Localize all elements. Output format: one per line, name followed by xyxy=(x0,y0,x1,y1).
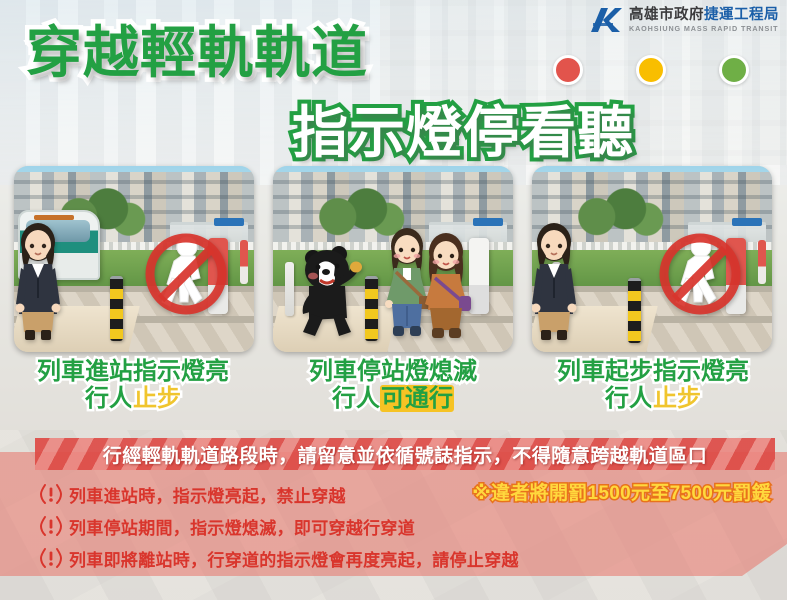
bear-mascot-figure xyxy=(299,242,363,340)
bullet-text: 列車停站期間，指示燈熄滅，即可穿越行穿道 xyxy=(69,514,415,539)
bullet-text: 列車即將離站時，行穿道的指示燈會再度亮起，請停止穿越 xyxy=(69,546,519,571)
list-item: 列車即將離站時，行穿道的指示燈會再度亮起，請停止穿越 xyxy=(40,542,510,574)
warning-exclamation-icon xyxy=(40,515,62,537)
panel-train-stopped xyxy=(273,166,513,352)
green-signal-dot xyxy=(719,55,749,85)
caption-panel-3: 列車起步指示燈亮 行人止步 xyxy=(522,358,784,413)
headline-line-1: 穿越輕軌軌道 xyxy=(26,8,368,89)
logo-agency-name: 高雄市政府 xyxy=(629,7,704,23)
caption-row: 列車進站指示燈亮 行人止步 列車停站燈熄滅 行人可通行 列車起步指示燈亮 行人止… xyxy=(0,358,787,424)
red-banner-text: 行經輕軌軌道路段時，請留意並依循號誌指示，不得隨意跨越軌道區口 xyxy=(103,441,708,468)
caption-3-prefix: 行人 xyxy=(605,385,653,412)
panel-yellow-black-bollard xyxy=(365,276,378,341)
poster-root: 高雄市政府捷運工程局 KAOHSIUNG MASS RAPID TRANSIT … xyxy=(0,0,787,600)
caption-2-line-2: 行人可通行 xyxy=(262,386,524,413)
caption-2-highlight: 可通行 xyxy=(380,385,454,412)
bullet-text: 列車進站時，指示燈亮起，禁止穿越 xyxy=(69,482,346,507)
warning-bullet-list: 列車進站時，指示燈亮起，禁止穿越 列車停站期間，指示燈熄滅，即可穿越行穿道 xyxy=(40,478,510,574)
caption-panel-1: 列車進站指示燈亮 行人止步 xyxy=(2,358,264,413)
logo-english-name: KAOHSIUNG MASS RAPID TRANSIT xyxy=(629,25,779,32)
logo-chinese-name: 高雄市政府捷運工程局 xyxy=(629,8,779,23)
photo-panel-row xyxy=(0,166,787,356)
panel-train-arriving xyxy=(14,166,254,352)
panel-white-post xyxy=(285,262,294,316)
penalty-notice: ※違者將開罰1500元至7500元罰鍰 xyxy=(472,478,771,505)
panel-street-trees xyxy=(568,188,664,240)
caption-2-prefix: 行人 xyxy=(332,385,380,412)
caption-1-line-1: 列車進站指示燈亮 xyxy=(2,358,264,386)
caption-1-line-2: 行人止步 xyxy=(2,386,264,413)
caption-1-prefix: 行人 xyxy=(85,385,133,412)
red-signal-dot xyxy=(553,55,583,85)
pedestrian-signal-far xyxy=(240,240,248,284)
caption-3-highlight: 止步 xyxy=(653,385,701,412)
caption-1-highlight: 止步 xyxy=(133,385,181,412)
warning-exclamation-icon xyxy=(40,547,62,569)
warning-exclamation-icon xyxy=(40,483,62,505)
waiting-pedestrian-figure xyxy=(532,218,580,342)
headline-line-2: 指示燈停看聽 xyxy=(292,88,634,169)
panel-station-sign xyxy=(732,218,762,226)
caption-panel-2: 列車停站燈熄滅 行人可通行 xyxy=(262,358,524,413)
panel-train-departing xyxy=(532,166,772,352)
caption-3-line-1: 列車起步指示燈亮 xyxy=(522,358,784,386)
red-warning-banner: 行經輕軌軌道路段時，請留意並依循號誌指示，不得隨意跨越軌道區口 xyxy=(35,438,775,470)
caption-2-line-1: 列車停站燈熄滅 xyxy=(262,358,524,386)
waiting-pedestrian-figure xyxy=(14,218,64,342)
crossing-pedestrian-2 xyxy=(419,230,473,344)
caption-3-line-2: 行人止步 xyxy=(522,386,784,413)
list-item: 列車進站時，指示燈亮起，禁止穿越 xyxy=(40,478,510,510)
logo-bureau-name: 捷運工程局 xyxy=(704,7,779,23)
kmrt-k-logo-icon xyxy=(589,6,623,34)
panel-yellow-black-bollard xyxy=(110,276,123,341)
panel-station-sign xyxy=(473,218,503,226)
panel-station-sign xyxy=(214,218,244,226)
amber-signal-dot xyxy=(636,55,666,85)
list-item: 列車停站期間，指示燈熄滅，即可穿越行穿道 xyxy=(40,510,510,542)
panel-yellow-black-bollard xyxy=(628,278,641,343)
pedestrian-signal-far xyxy=(758,240,766,284)
signal-dot-row xyxy=(553,52,787,92)
no-crossing-icon xyxy=(140,228,226,314)
no-crossing-icon xyxy=(654,228,740,314)
logo-text-block: 高雄市政府捷運工程局 KAOHSIUNG MASS RAPID TRANSIT xyxy=(629,8,779,32)
kmrt-logo: 高雄市政府捷運工程局 KAOHSIUNG MASS RAPID TRANSIT xyxy=(589,6,779,34)
